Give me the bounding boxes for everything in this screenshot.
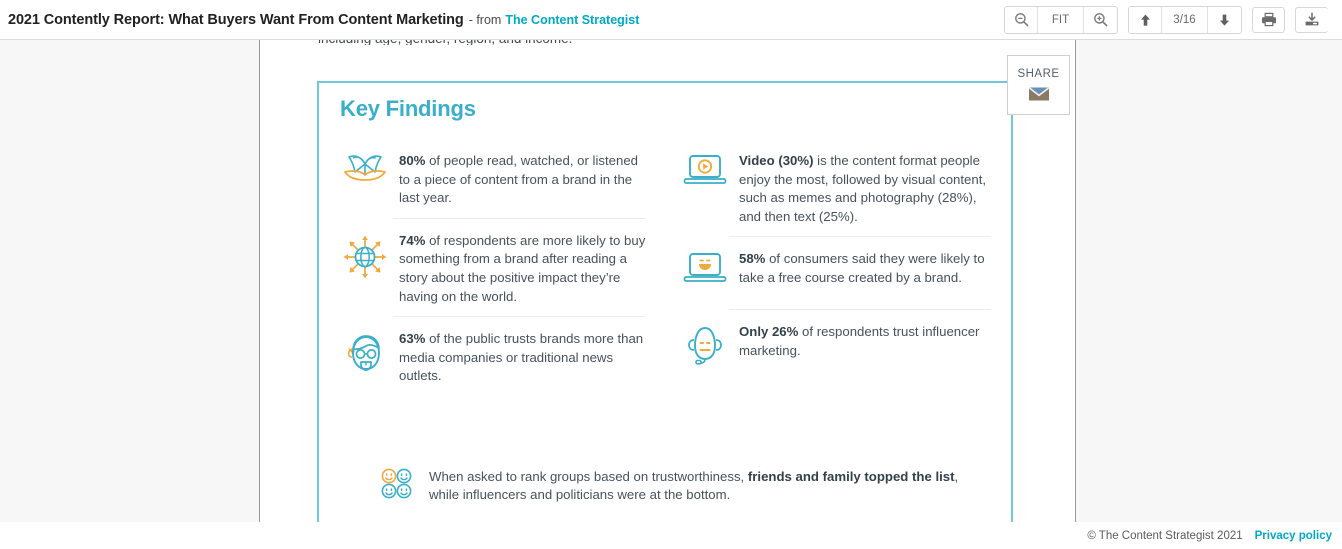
key-findings-columns: 80% of people read, watched, or listened…: [319, 145, 1015, 475]
finding-stat: 74%: [399, 233, 425, 248]
key-findings-box: Key Findings: [317, 81, 1013, 522]
finding-stat: 63%: [399, 331, 425, 346]
divider: [393, 316, 645, 317]
divider: [729, 309, 991, 310]
finding-body: of consumers said they were likely to ta…: [739, 251, 985, 285]
four-smileys-icon: [379, 467, 415, 501]
clipped-paragraph-above: including age, gender, region, and incom…: [318, 40, 1018, 45]
finding-text: 63% of the public trusts brands more tha…: [391, 329, 651, 386]
finding-body: of the public trusts brands more than me…: [399, 331, 643, 383]
bottom-finding-text: When asked to rank groups based on trust…: [415, 467, 981, 505]
bottom-part1: When asked to rank groups based on trust…: [429, 469, 748, 484]
face-with-glasses-icon: [339, 329, 391, 379]
zoom-in-button[interactable]: [1084, 7, 1117, 33]
document-viewer[interactable]: including age, gender, region, and incom…: [0, 40, 1342, 549]
bottom-bold: friends and family topped the list: [748, 469, 955, 484]
finding-item: 74% of respondents are more likely to bu…: [339, 225, 651, 306]
globe-network-icon: [339, 231, 391, 281]
finding-stat: 58%: [739, 251, 765, 266]
share-label: SHARE: [1017, 68, 1059, 80]
zoom-out-button[interactable]: [1005, 7, 1038, 33]
previous-page-button[interactable]: [1129, 7, 1162, 33]
divider: [729, 236, 991, 237]
finding-text: 74% of respondents are more likely to bu…: [391, 231, 651, 306]
finding-body: of respondents are more likely to buy so…: [399, 233, 645, 304]
share-panel[interactable]: SHARE: [1007, 55, 1070, 115]
arrow-up-icon: [1139, 13, 1152, 27]
document-title: 2021 Contently Report: What Buyers Want …: [8, 12, 464, 28]
next-page-button[interactable]: [1208, 7, 1241, 33]
from-label: - from: [469, 13, 502, 27]
open-book-icon: [339, 151, 391, 201]
finding-text: Video (30%) is the content format people…: [731, 151, 997, 226]
toolbar-controls: FIT 3/16: [1004, 6, 1334, 34]
zoom-control-group: FIT: [1004, 6, 1118, 34]
printer-icon: [1261, 12, 1277, 27]
finding-stat: Only 26%: [739, 324, 798, 339]
page-navigation-group: 3/16: [1128, 6, 1242, 34]
finding-item: 80% of people read, watched, or listened…: [339, 145, 651, 208]
download-icon: [1304, 12, 1320, 27]
magnifier-plus-icon: [1093, 12, 1108, 27]
finding-stat: Video (30%): [739, 153, 814, 168]
finding-item: Video (30%) is the content format people…: [679, 145, 997, 226]
privacy-policy-link[interactable]: Privacy policy: [1255, 530, 1332, 542]
print-button[interactable]: [1252, 7, 1285, 33]
clipped-paragraph-text: including age, gender, region, and incom…: [318, 40, 1018, 45]
finding-text: Only 26% of respondents trust influencer…: [731, 322, 997, 360]
download-button[interactable]: [1295, 7, 1328, 33]
envelope-icon[interactable]: [1028, 86, 1050, 102]
divider: [393, 218, 645, 219]
laptop-smile-icon: [679, 249, 731, 299]
arrow-down-icon: [1218, 13, 1231, 27]
key-findings-title: Key Findings: [340, 96, 476, 122]
page-footer: © The Content Strategist 2021 Privacy po…: [0, 522, 1342, 549]
finding-text: 80% of people read, watched, or listened…: [391, 151, 651, 208]
copyright-text: © The Content Strategist 2021: [1087, 530, 1242, 542]
page-indicator[interactable]: 3/16: [1162, 7, 1208, 33]
bottom-finding: When asked to rank groups based on trust…: [319, 467, 1015, 505]
fit-button[interactable]: FIT: [1038, 7, 1084, 33]
document-page: including age, gender, region, and incom…: [259, 40, 1076, 522]
finding-body: of people read, watched, or listened to …: [399, 153, 638, 205]
finding-text: 58% of consumers said they were likely t…: [731, 249, 997, 287]
magnifier-minus-icon: [1014, 12, 1029, 27]
key-findings-left-column: 80% of people read, watched, or listened…: [319, 145, 667, 475]
headset-face-icon: [679, 322, 731, 372]
key-findings-right-column: Video (30%) is the content format people…: [667, 145, 1015, 475]
finding-stat: 80%: [399, 153, 425, 168]
viewer-toolbar: 2021 Contently Report: What Buyers Want …: [0, 0, 1342, 40]
finding-item: 58% of consumers said they were likely t…: [679, 243, 997, 299]
laptop-video-icon: [679, 151, 731, 201]
finding-item: Only 26% of respondents trust influencer…: [679, 316, 997, 372]
source-link[interactable]: The Content Strategist: [505, 13, 639, 27]
finding-item: 63% of the public trusts brands more tha…: [339, 323, 651, 386]
